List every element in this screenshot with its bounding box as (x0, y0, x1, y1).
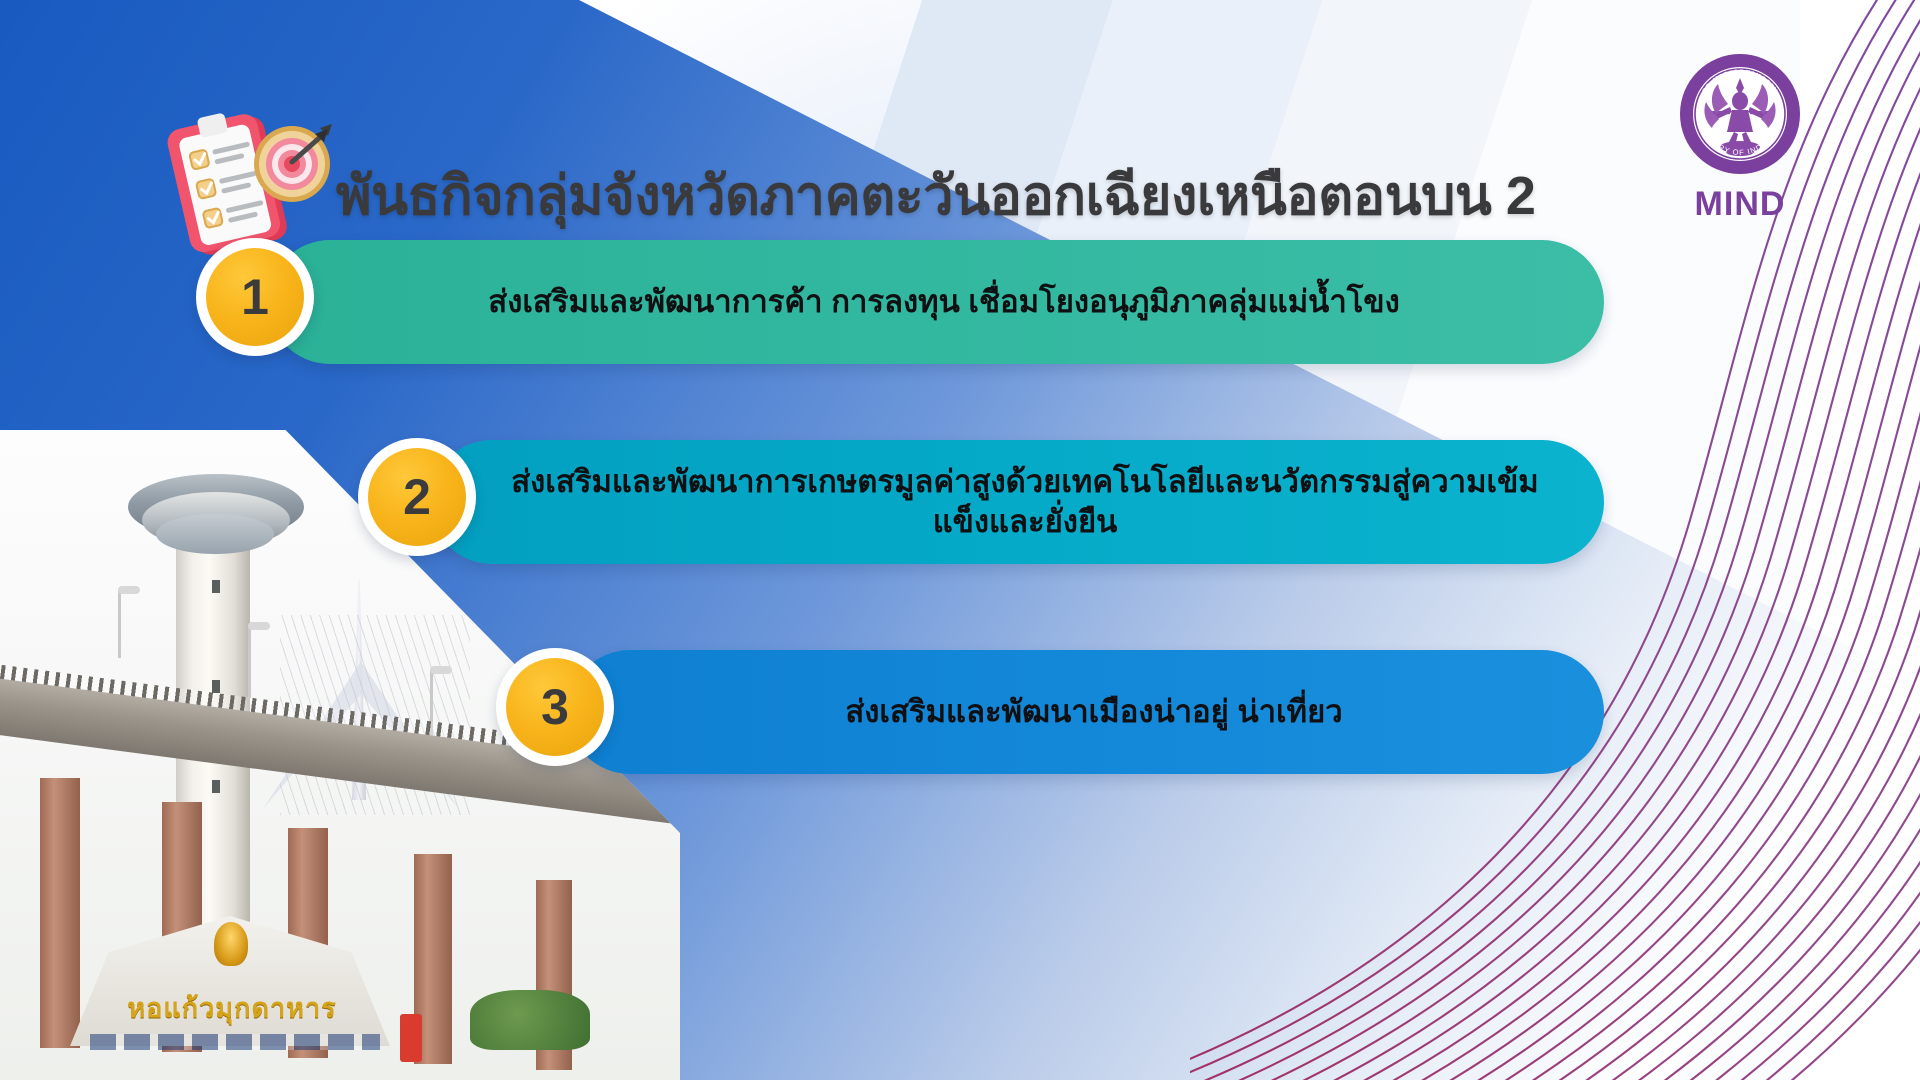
mission-pill-3[interactable]: ส่งเสริมและพัฒนาเมืองน่าอยู่ น่าเที่ยว (568, 650, 1604, 774)
slide-canvas: หอแก้วมุกดาหาร (0, 0, 1920, 1080)
mission-row-1[interactable]: ส่งเสริมและพัฒนาการค้า การลงทุน เชื่อมโย… (0, 240, 1920, 364)
mission-text-3: ส่งเสริมและพัฒนาเมืองน่าอยู่ น่าเที่ยว (568, 692, 1604, 732)
mission-badge-1: 1 (196, 238, 314, 356)
mission-badge-circle-1: 1 (206, 248, 304, 346)
mission-badge-circle-3: 3 (506, 658, 604, 756)
mission-pill-1[interactable]: ส่งเสริมและพัฒนาการค้า การลงทุน เชื่อมโย… (268, 240, 1604, 364)
mission-row-2[interactable]: ส่งเสริมและพัฒนาการเกษตรมูลค่าสูงด้วยเทค… (0, 440, 1920, 564)
mission-list: ส่งเสริมและพัฒนาการค้า การลงทุน เชื่อมโย… (0, 0, 1920, 1080)
mission-number-2: 2 (403, 472, 431, 522)
mission-badge-circle-2: 2 (368, 448, 466, 546)
mission-badge-2: 2 (358, 438, 476, 556)
mission-pill-2[interactable]: ส่งเสริมและพัฒนาการเกษตรมูลค่าสูงด้วยเทค… (430, 440, 1604, 564)
mission-text-1: ส่งเสริมและพัฒนาการค้า การลงทุน เชื่อมโย… (268, 282, 1604, 322)
mission-badge-3: 3 (496, 648, 614, 766)
mission-text-2: ส่งเสริมและพัฒนาการเกษตรมูลค่าสูงด้วยเทค… (430, 462, 1604, 543)
mission-number-1: 1 (241, 272, 269, 322)
mission-row-3[interactable]: ส่งเสริมและพัฒนาเมืองน่าอยู่ น่าเที่ยว 3 (0, 650, 1920, 774)
mission-number-3: 3 (541, 682, 569, 732)
